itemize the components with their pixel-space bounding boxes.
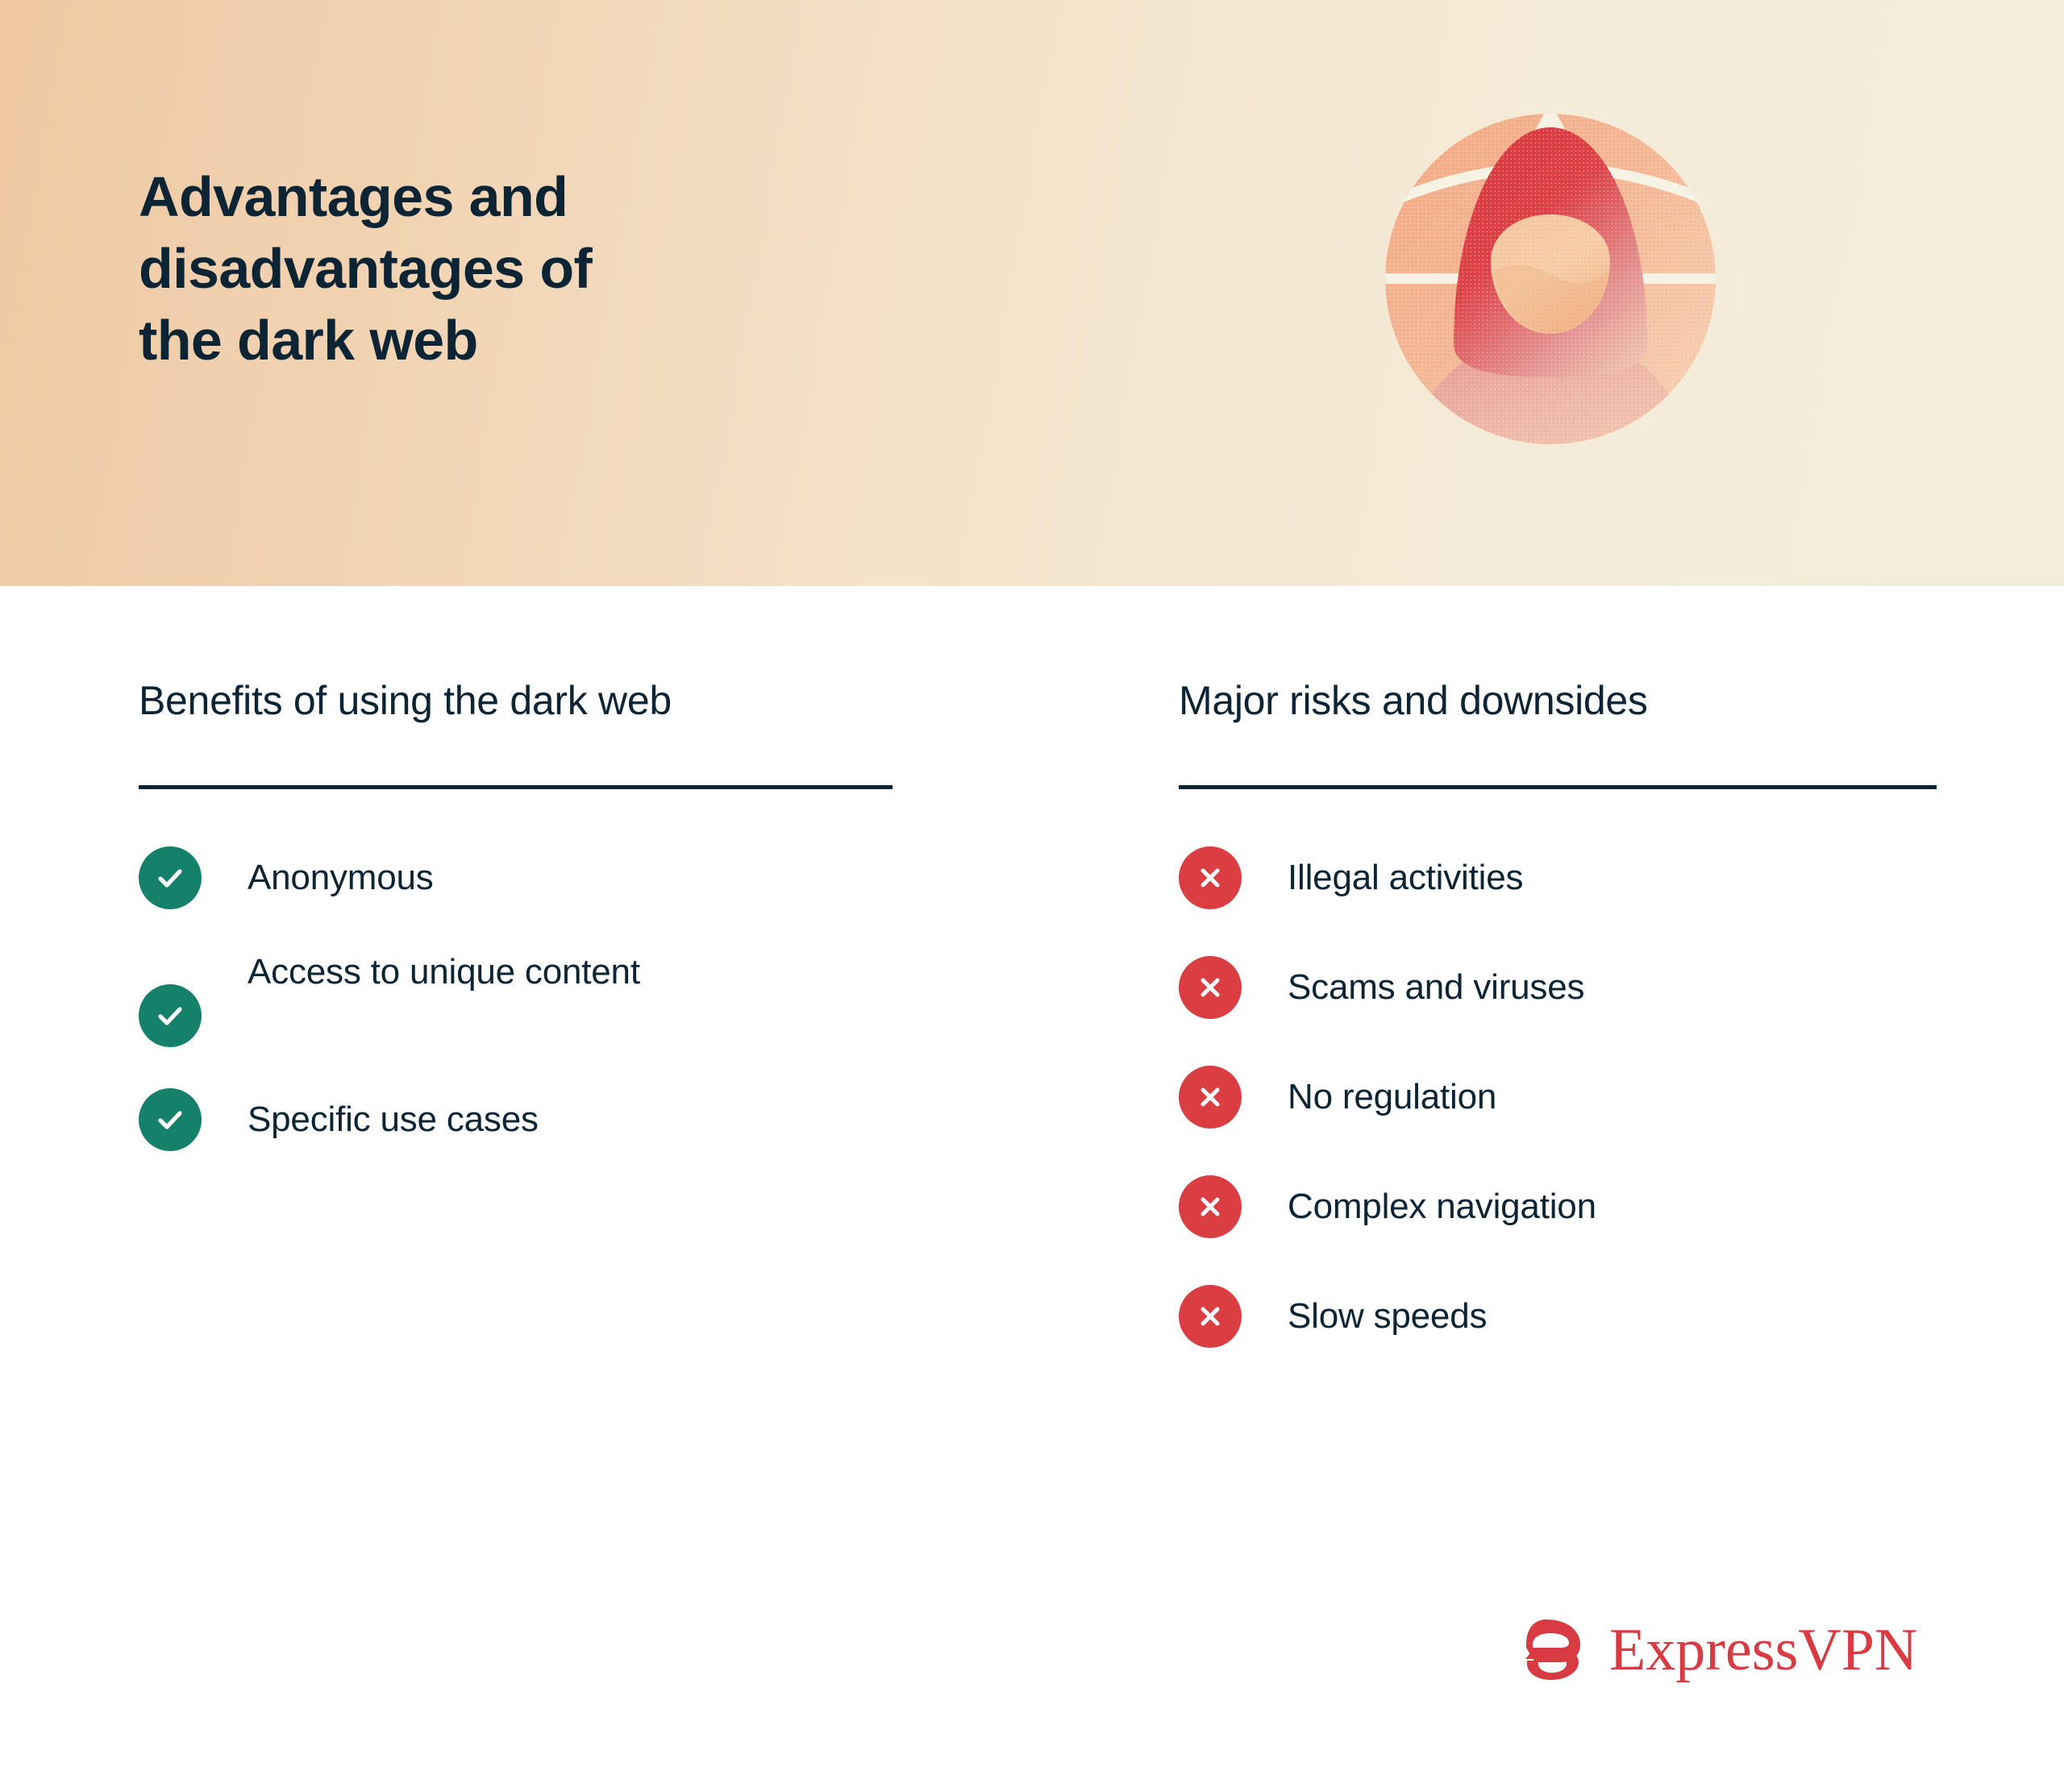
list-item-label: Access to unique content [248, 950, 640, 994]
comparison-columns: Benefits of using the dark web Anonymous [0, 586, 2064, 1792]
header-banner: Advantages and disadvantages of the dark… [0, 0, 2064, 586]
x-circle-icon [1179, 1066, 1242, 1129]
benefits-divider [139, 785, 893, 789]
list-item: Access to unique content [139, 950, 893, 1047]
risks-divider [1179, 785, 1937, 789]
list-item: Scams and viruses [1179, 956, 1937, 1019]
x-circle-icon [1179, 846, 1242, 909]
expressvpn-wordmark: ExpressVPN [1609, 1620, 1917, 1680]
list-item: Illegal activities [1179, 846, 1937, 909]
list-item-label: Illegal activities [1288, 846, 1523, 900]
check-circle-icon [139, 984, 202, 1047]
list-item: Complex navigation [1179, 1175, 1937, 1238]
x-circle-icon [1179, 956, 1242, 1019]
x-circle-icon [1179, 1175, 1242, 1238]
list-item-label: Scams and viruses [1288, 956, 1584, 1009]
list-item: Slow speeds [1179, 1285, 1937, 1348]
benefits-list: Anonymous Access to unique content [139, 846, 893, 1151]
expressvpn-logo: ExpressVPN [1522, 1615, 1917, 1685]
infographic-canvas: Advantages and disadvantages of the dark… [0, 0, 2064, 1792]
list-item: Anonymous [139, 846, 893, 909]
risks-heading: Major risks and downsides [1179, 677, 1937, 724]
list-item-label: Slow speeds [1288, 1285, 1487, 1338]
list-item-label: Specific use cases [248, 1088, 539, 1141]
risks-column: Major risks and downsides Illegal activi… [1179, 586, 1937, 1395]
benefits-column: Benefits of using the dark web Anonymous [139, 586, 893, 1151]
list-item-label: No regulation [1288, 1066, 1496, 1119]
list-item-label: Complex navigation [1288, 1175, 1596, 1229]
benefits-heading: Benefits of using the dark web [139, 677, 893, 724]
list-item-label: Anonymous [248, 846, 434, 900]
list-item: Specific use cases [139, 1088, 893, 1151]
expressvpn-e-icon [1522, 1615, 1588, 1685]
check-circle-icon [139, 1088, 202, 1151]
risks-list: Illegal activities Scams and viruses [1179, 846, 1937, 1348]
list-item: No regulation [1179, 1066, 1937, 1129]
x-circle-icon [1179, 1285, 1242, 1348]
page-title: Advantages and disadvantages of the dark… [139, 161, 864, 376]
check-circle-icon [139, 846, 202, 909]
hooded-anonymous-figure-globe-icon [1349, 77, 1752, 480]
